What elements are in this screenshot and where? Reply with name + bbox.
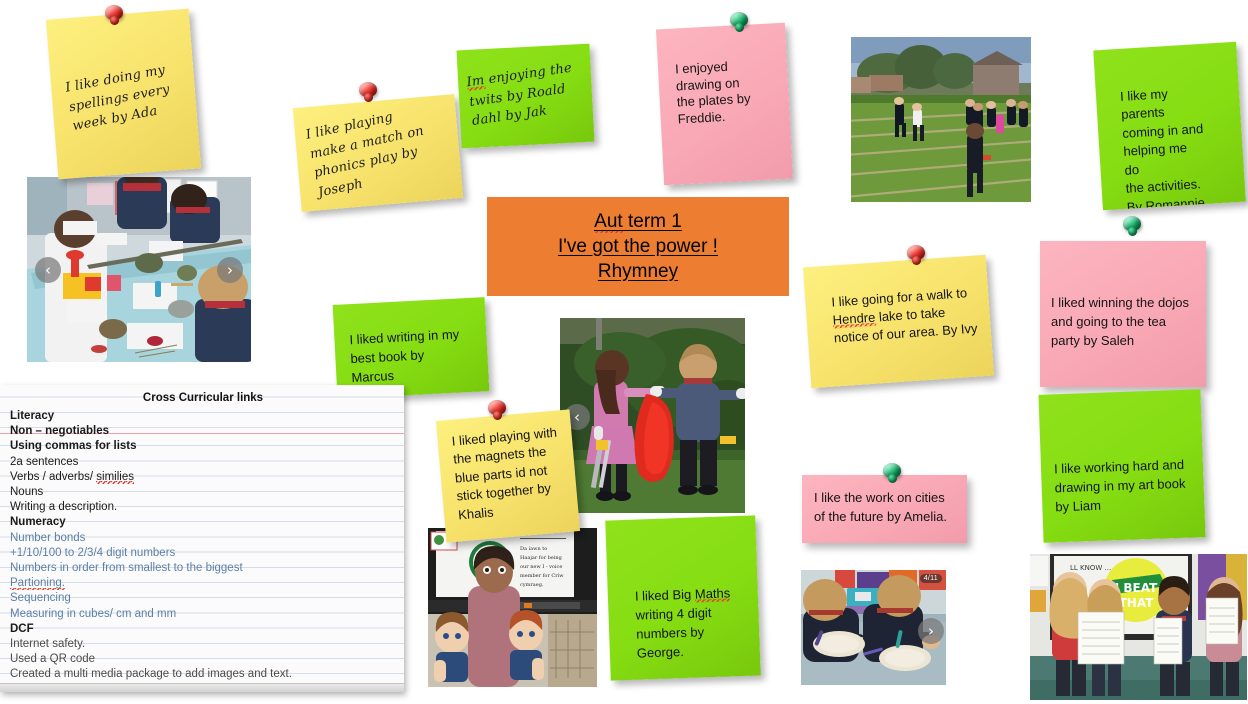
- spellcheck-underline: similies: [96, 471, 134, 484]
- photo-next-arrow[interactable]: ›: [918, 618, 944, 644]
- sticky-note-text: I like doing my spellings every week by …: [64, 57, 191, 136]
- sticky-note-text: I like the work on cities of the future …: [814, 489, 964, 527]
- cross-curricular-line: DCF: [10, 622, 396, 637]
- sticky-note-text: I like my parents coming in and helping …: [1120, 81, 1246, 211]
- title-line-3: Rhymney: [598, 261, 678, 283]
- cross-curricular-line: Number bonds: [10, 531, 396, 546]
- cross-curricular-line: Writing a description.: [10, 500, 396, 515]
- spellcheck-underline: Hendre: [832, 310, 876, 329]
- sticky-note-saleh[interactable]: I liked winning the dojos and going to t…: [1040, 241, 1206, 387]
- spellcheck-underline: Aut: [594, 211, 623, 233]
- svg-text:member for Criw: member for Criw: [520, 573, 564, 579]
- photo-litter-pick[interactable]: ‹: [560, 318, 745, 513]
- spellcheck-underline: Romannie: [1145, 195, 1205, 210]
- photo-plate-drawing[interactable]: 4/11 ›: [801, 570, 946, 685]
- sticky-note-marcus[interactable]: I liked writing in my best book by Marcu…: [333, 297, 490, 399]
- sticky-note-text: I liked winning the dojos and going to t…: [1051, 294, 1201, 351]
- sticky-note-text: I liked writing in my best book by Marcu…: [349, 324, 484, 387]
- card-bottom-edge: [0, 683, 404, 692]
- sticky-note-text: I like working hard and drawing in my ar…: [1054, 455, 1206, 517]
- cross-curricular-line: Created a multi media package to add ima…: [10, 667, 396, 682]
- svg-text:cymraeg.: cymraeg.: [520, 582, 544, 588]
- photo-sports-field-image: [851, 37, 1031, 202]
- cross-curricular-line: 2a sentences: [10, 455, 396, 470]
- cross-curricular-line: Using commas for lists: [10, 439, 396, 454]
- sticky-note-amelia[interactable]: I like the work on cities of the future …: [802, 475, 967, 543]
- photo-beat-that[interactable]: LL KNOW ... I BEAT THAT: [1030, 554, 1247, 700]
- sticky-note-text: Im enjoying the twits by Roald dahl by J…: [465, 57, 592, 132]
- sticky-note-ivy[interactable]: I like going for a walk to Hendre lake t…: [803, 255, 994, 388]
- cross-curricular-line: Used a QR code: [10, 652, 396, 667]
- cross-curricular-line: Literacy: [10, 409, 396, 424]
- cross-curricular-list: LiteracyNon – negotiablesUsing commas fo…: [10, 409, 396, 692]
- title-line-2: I've got the power !: [558, 236, 718, 258]
- sticky-note-george[interactable]: I liked Big Maths writing 4 digit number…: [605, 515, 760, 680]
- sticky-note-freddie[interactable]: I enjoyed drawing on the plates by Fredd…: [656, 23, 793, 186]
- sticky-note-romannie[interactable]: I like my parents coming in and helping …: [1093, 42, 1246, 210]
- spellcheck-underline: Partioning.: [10, 577, 65, 590]
- svg-text:Haajar for being: Haajar for being: [520, 555, 563, 561]
- spellcheck-underline: Im: [466, 73, 486, 91]
- cross-curricular-heading: Cross Curricular links: [10, 392, 396, 404]
- photo-prev-arrow[interactable]: ‹: [35, 257, 61, 283]
- cross-curricular-line: Non – negotiables: [10, 424, 396, 439]
- svg-text:I BEAT: I BEAT: [1115, 581, 1158, 595]
- cross-curricular-line: +1/10/100 to 2/3/4 digit numbers: [10, 546, 396, 561]
- svg-text:our new I - voice: our new I - voice: [520, 564, 562, 570]
- svg-text:Da iawn to: Da iawn to: [520, 546, 547, 552]
- svg-text:LL KNOW ...: LL KNOW ...: [1070, 564, 1111, 572]
- sticky-note-liam[interactable]: I like working hard and drawing in my ar…: [1038, 389, 1205, 543]
- page-title: Aut term 1 I've got the power ! Rhymney: [487, 197, 789, 296]
- sticky-note-khalis[interactable]: I liked playing with the magnets the blu…: [436, 409, 580, 542]
- sticky-note-text: I liked Big Maths writing 4 digit number…: [635, 583, 758, 663]
- sticky-note-jak[interactable]: Im enjoying the twits by Roald dahl by J…: [457, 44, 595, 149]
- cross-curricular-line: Numeracy: [10, 515, 396, 530]
- cross-curricular-line: Sequencing: [10, 591, 396, 606]
- display-board: ‹ ›: [0, 0, 1248, 704]
- photo-next-arrow[interactable]: ›: [217, 257, 243, 283]
- cross-curricular-line: Nouns: [10, 485, 396, 500]
- photo-beat-that-image: LL KNOW ... I BEAT THAT: [1030, 554, 1247, 700]
- photo-sports-field[interactable]: [851, 37, 1031, 202]
- cross-curricular-line: Measuring in cubes/ cm and mm: [10, 607, 396, 622]
- cross-curricular-line: Numbers in order from smallest to the bi…: [10, 561, 396, 576]
- sticky-note-text: I like going for a walk to Hendre lake t…: [831, 283, 990, 348]
- cross-curricular-line: Verbs / adverbs/ similies: [10, 470, 396, 485]
- photo-science-table[interactable]: ‹ ›: [27, 177, 251, 362]
- cross-curricular-links-card[interactable]: Cross Curricular links LiteracyNon – neg…: [0, 385, 404, 692]
- spellcheck-underline: Maths: [695, 585, 731, 602]
- svg-text:THAT: THAT: [1119, 596, 1155, 610]
- cross-curricular-line: Partioning.: [10, 576, 396, 591]
- sticky-note-text: I like playing make a match on phonics p…: [304, 97, 457, 202]
- sticky-note-text: I enjoyed drawing on the plates by Fredd…: [675, 56, 783, 128]
- sticky-note-text: I liked playing with the magnets the blu…: [451, 422, 580, 525]
- cross-curricular-line: Internet safety.: [10, 637, 396, 652]
- photo-criw-cymraeg-image: CRIW CYMRAEG Da iawn to Haajar for being…: [428, 528, 597, 687]
- title-line-1: Aut term 1: [594, 211, 682, 233]
- sticky-note-joseph[interactable]: I like playing make a match on phonics p…: [293, 94, 463, 212]
- pushpin-icon: [1119, 216, 1145, 242]
- photo-criw-cymraeg[interactable]: CRIW CYMRAEG Da iawn to Haajar for being…: [428, 528, 597, 687]
- sticky-note-ada[interactable]: I like doing my spellings every week by …: [46, 9, 201, 180]
- photo-counter-badge: 4/11: [920, 574, 942, 583]
